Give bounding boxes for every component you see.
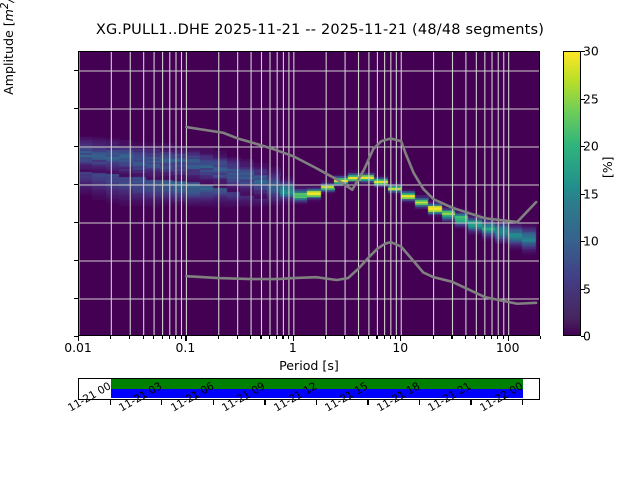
x-axis-tick-mark xyxy=(169,336,170,339)
timeline-tick-mark xyxy=(264,400,265,405)
x-axis-tick-label: 0.1 xyxy=(176,340,196,355)
x-axis-tick-label: 100 xyxy=(496,340,520,355)
x-axis-tick-mark xyxy=(110,336,111,339)
colorbar-tick-label: 20 xyxy=(583,139,599,154)
x-axis-tick-mark xyxy=(508,336,509,341)
x-axis-tick-mark xyxy=(465,336,466,339)
x-axis-tick-mark xyxy=(288,336,289,339)
x-axis-tick-mark xyxy=(237,336,238,339)
x-axis-tick-mark xyxy=(78,336,79,341)
timeline-tick-mark xyxy=(419,400,420,405)
timeline-tick-mark xyxy=(161,400,162,405)
y-axis-tick-mark xyxy=(74,146,78,147)
x-axis-tick-mark xyxy=(358,336,359,339)
x-axis-tick-mark xyxy=(269,336,270,339)
x-axis-tick-mark xyxy=(129,336,130,339)
x-axis-label: Period [s] xyxy=(78,358,540,373)
y-axis-tick-mark xyxy=(74,184,78,185)
timeline-tick-mark xyxy=(522,400,523,405)
colorbar-tick-mark xyxy=(581,51,585,52)
y-axis-tick-mark xyxy=(74,222,78,223)
x-axis-tick-mark xyxy=(282,336,283,339)
y-axis-tick-mark xyxy=(74,70,78,71)
x-axis-tick-mark xyxy=(181,336,182,339)
x-axis-tick-mark xyxy=(475,336,476,339)
colorbar xyxy=(563,51,581,336)
x-axis-tick-mark xyxy=(451,336,452,339)
x-axis-tick-mark xyxy=(433,336,434,339)
x-axis-tick-mark xyxy=(344,336,345,339)
x-axis-tick-mark xyxy=(175,336,176,339)
x-axis-tick-label: 10 xyxy=(392,340,408,355)
timeline-tick-mark xyxy=(367,400,368,405)
colorbar-tick-mark xyxy=(581,99,585,100)
page-title: XG.PULL1..DHE 2025-11-21 -- 2025-11-21 (… xyxy=(0,22,640,38)
colorbar-tick-label: 15 xyxy=(583,186,599,201)
ppsd-plot-area[interactable] xyxy=(78,51,540,336)
x-axis-tick-mark xyxy=(250,336,251,339)
x-axis-tick-mark xyxy=(384,336,385,339)
colorbar-tick-mark xyxy=(581,241,585,242)
colorbar-tick-mark xyxy=(581,146,585,147)
y-axis-label-text: Amplitude [m2/s4/Hz] [dB] xyxy=(0,0,16,95)
x-axis-tick-mark xyxy=(143,336,144,339)
x-axis-tick-mark xyxy=(400,336,401,341)
x-axis-tick-mark xyxy=(376,336,377,339)
x-axis-tick-label: 1 xyxy=(289,340,297,355)
x-axis-tick-mark xyxy=(390,336,391,339)
colorbar-tick-label: 25 xyxy=(583,91,599,106)
x-axis-tick-mark xyxy=(325,336,326,339)
x-axis-tick-mark xyxy=(293,336,294,341)
x-axis-tick-mark xyxy=(153,336,154,339)
x-axis-tick-mark xyxy=(484,336,485,339)
x-axis-tick-mark xyxy=(491,336,492,339)
x-axis-tick-mark xyxy=(368,336,369,339)
x-axis-tick-mark xyxy=(276,336,277,339)
colorbar-tick-label: 30 xyxy=(583,44,599,59)
x-axis-tick-mark xyxy=(503,336,504,339)
noise-model-curves xyxy=(79,52,540,336)
x-axis-tick-mark xyxy=(497,336,498,339)
y-axis-tick-mark xyxy=(74,108,78,109)
x-axis-tick-mark xyxy=(218,336,219,339)
x-axis-tick-mark xyxy=(162,336,163,339)
x-axis-tick-label: 0.01 xyxy=(64,340,92,355)
timeline-tick-mark xyxy=(213,400,214,405)
timeline-tick-mark xyxy=(110,400,111,405)
y-axis-tick-mark xyxy=(74,298,78,299)
colorbar-tick-label: 10 xyxy=(583,234,599,249)
colorbar-label: [%] xyxy=(600,118,615,178)
colorbar-tick-mark xyxy=(581,194,585,195)
timeline-tick-mark xyxy=(470,400,471,405)
x-axis-tick-mark xyxy=(185,336,186,341)
y-axis-label: Amplitude [m2/s4/Hz] [dB] xyxy=(0,0,16,112)
colorbar-tick-mark xyxy=(581,336,585,337)
x-axis-tick-mark xyxy=(260,336,261,339)
x-axis-tick-mark xyxy=(395,336,396,339)
y-axis-tick-mark xyxy=(74,260,78,261)
timeline-tick-mark xyxy=(316,400,317,405)
colorbar-tick-mark xyxy=(581,289,585,290)
x-axis-tick-mark xyxy=(540,336,541,339)
